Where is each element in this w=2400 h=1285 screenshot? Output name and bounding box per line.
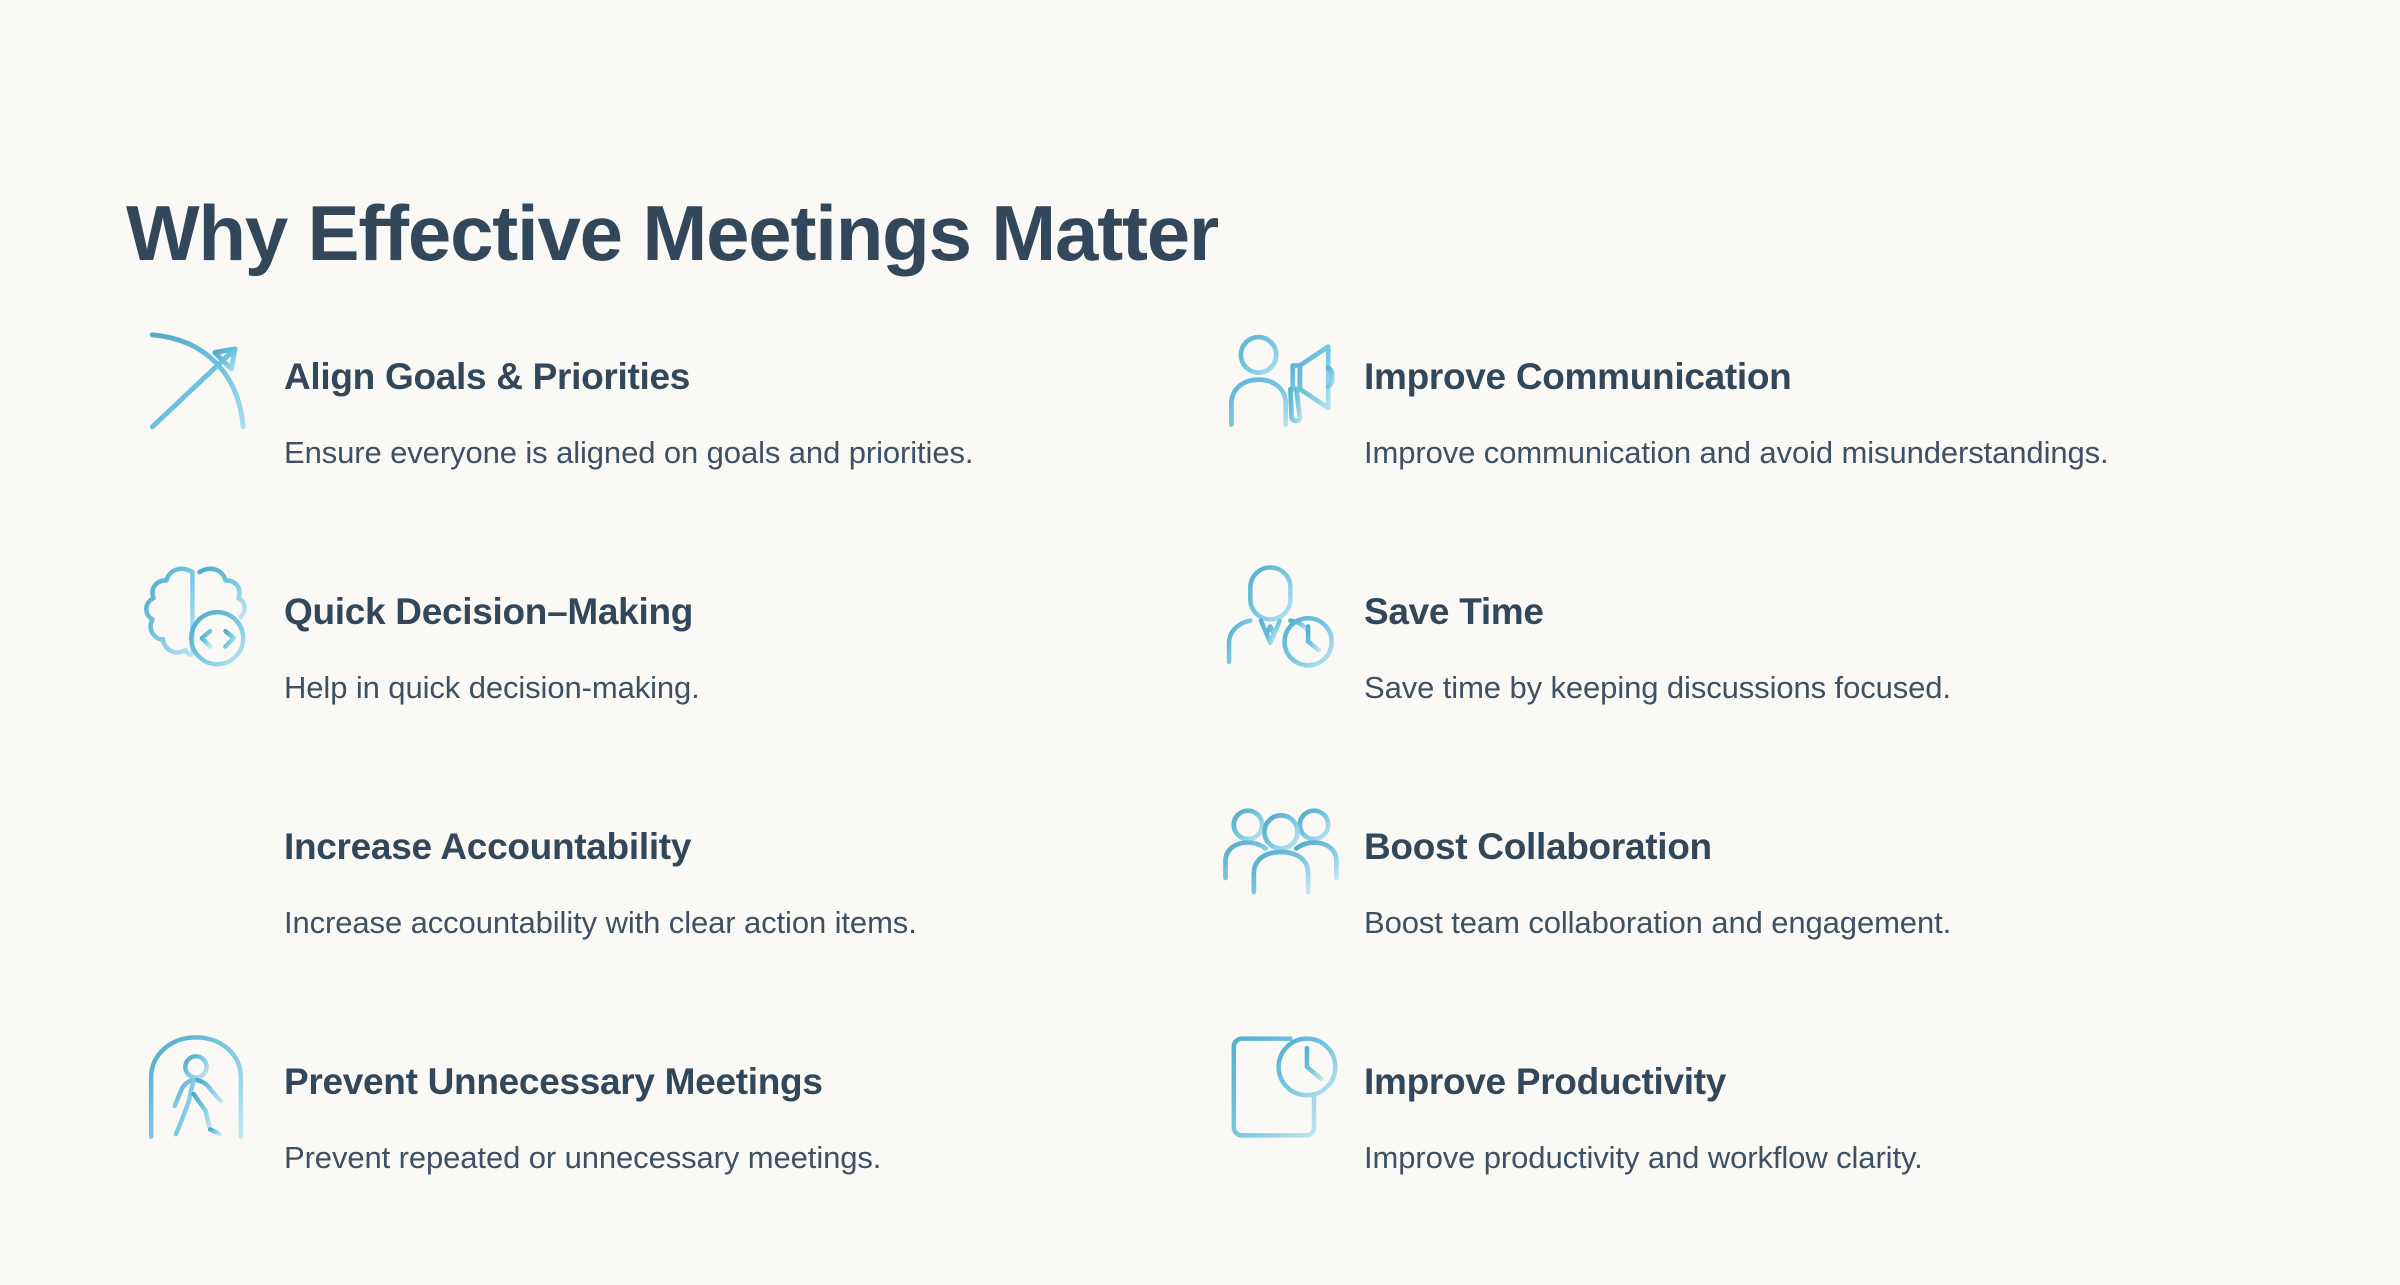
feature-heading: Align Goals & Priorities [284, 356, 690, 398]
feature-heading: Boost Collaboration [1364, 826, 1712, 868]
document-with-clock-icon [1216, 1017, 1346, 1157]
two-vertical-bars-icon [126, 782, 266, 922]
feature-description: Boost team collaboration and engagement. [1364, 905, 1951, 941]
feature-heading: Improve Productivity [1364, 1061, 1726, 1103]
feature-description: Help in quick decision-making. [284, 670, 700, 706]
businessperson-with-clock-icon [1216, 547, 1346, 687]
infographic-page: Why Effective Meetings Matter [0, 0, 2400, 1285]
person-walking-through-door-icon [126, 1017, 266, 1157]
feature-description: Ensure everyone is aligned on goals and … [284, 435, 973, 471]
feature-item-align-goals: Align Goals & Priorities Ensure everyone… [126, 312, 1216, 547]
feature-heading: Increase Accountability [284, 826, 691, 868]
feature-description: Save time by keeping discussions focused… [1364, 670, 1951, 706]
feature-item-increase-accountability: Increase Accountability Increase account… [126, 782, 1216, 1017]
feature-item-improve-productivity: Improve Productivity Improve productivit… [1216, 1017, 2286, 1252]
feature-item-improve-communication: Improve Communication Improve communicat… [1216, 312, 2286, 547]
feature-description: Increase accountability with clear actio… [284, 905, 917, 941]
feature-item-save-time: Save Time Save time by keeping discussio… [1216, 547, 2286, 782]
feature-item-prevent-unnecessary-meetings: Prevent Unnecessary Meetings Prevent rep… [126, 1017, 1216, 1252]
features-grid: Align Goals & Priorities Ensure everyone… [126, 312, 2286, 1252]
page-title: Why Effective Meetings Matter [126, 194, 1218, 272]
feature-heading: Prevent Unnecessary Meetings [284, 1061, 823, 1103]
person-with-megaphone-icon [1216, 312, 1346, 452]
feature-heading: Improve Communication [1364, 356, 1791, 398]
feature-heading: Quick Decision–Making [284, 591, 693, 633]
feature-item-quick-decision-making: Quick Decision–Making Help in quick deci… [126, 547, 1216, 782]
feature-heading: Save Time [1364, 591, 1544, 633]
brain-code-icon [126, 547, 266, 687]
feature-item-boost-collaboration: Boost Collaboration Boost team collabora… [1216, 782, 2286, 1017]
group-of-people-icon [1216, 782, 1346, 922]
bow-and-arrow-icon [126, 312, 266, 452]
feature-description: Prevent repeated or unnecessary meetings… [284, 1140, 881, 1176]
feature-description: Improve communication and avoid misunder… [1364, 435, 2109, 471]
feature-description: Improve productivity and workflow clarit… [1364, 1140, 1923, 1176]
